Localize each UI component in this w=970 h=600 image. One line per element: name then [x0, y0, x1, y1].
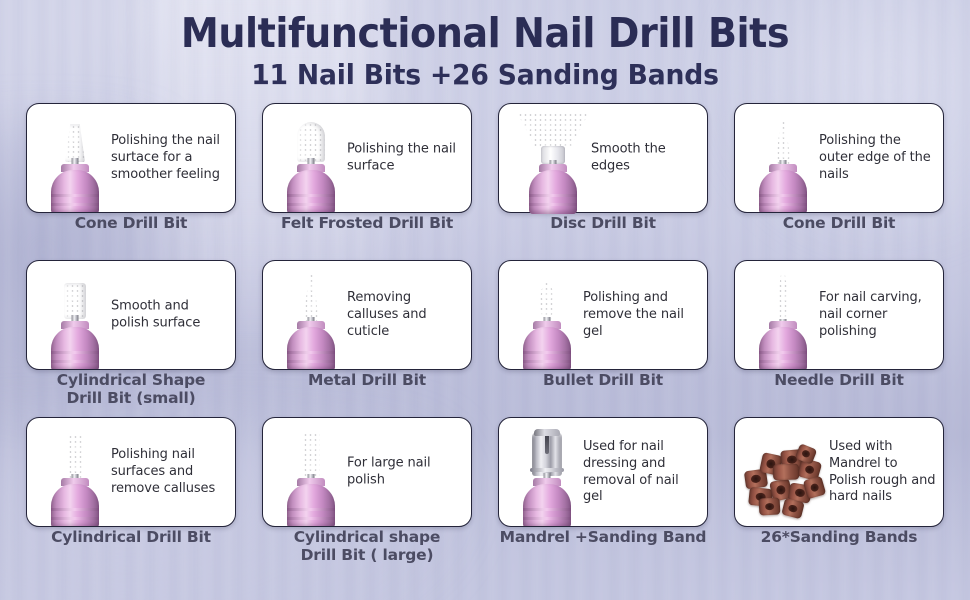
silver-cylinder-large-tip-icon: [302, 432, 320, 478]
grid-cell: Polishing nail surfaces and remove callu…: [20, 417, 242, 574]
disc-bit-illustration: [507, 102, 599, 214]
product-card-cylindrical-shape-drill-bit-small[interactable]: Smooth and polish surface: [26, 260, 236, 370]
pink-metallic-base-icon: [51, 484, 99, 526]
card-description: Smooth the edges: [591, 142, 700, 175]
card-description: Smooth and polish surface: [111, 299, 228, 332]
card-description: For large nail polish: [347, 456, 464, 489]
mandrel-cap-icon: [534, 429, 560, 436]
pink-metallic-base-icon: [51, 170, 99, 212]
mandrel-bit-illustration: [513, 418, 581, 526]
card-caption: Mandrel +Sanding Band: [492, 529, 714, 546]
card-description: Used for nail dressing and removal of na…: [583, 439, 700, 506]
bullet-flame-tip-icon: [538, 281, 556, 321]
pink-metallic-base-icon: [51, 327, 99, 369]
card-description: Polishing the outer edge of the nails: [819, 133, 936, 183]
pink-disc-tip-icon: [517, 112, 589, 148]
metal-taper-bit-illustration: [277, 261, 345, 369]
card-caption: Felt Frosted Drill Bit: [256, 215, 478, 232]
card-description: Used with Mandrel to Polish rough and ha…: [829, 439, 936, 506]
product-card-needle-drill-bit[interactable]: For nail carving, nail corner polishing: [734, 260, 944, 370]
pink-metallic-base-icon: [759, 170, 807, 212]
card-caption: Cone Drill Bit: [20, 215, 242, 232]
pink-metallic-base-icon: [287, 484, 335, 526]
card-description: Removing calluses and cuticle: [347, 290, 464, 340]
silver-cylinder-bit-illustration: [41, 418, 109, 526]
pink-metallic-base-icon: [529, 170, 577, 214]
grid-cell: Smooth the edges Disc Drill Bit: [492, 103, 714, 260]
needle-tip-icon: [777, 263, 789, 323]
ceramic-cylinder-bit-illustration: [41, 261, 109, 369]
page-subtitle: 11 Nail Bits +26 Sanding Bands: [24, 60, 946, 91]
card-caption: 26*Sanding Bands: [728, 529, 950, 546]
product-card-disc-drill-bit[interactable]: Smooth the edges: [498, 103, 708, 213]
product-card-mandrel-sanding-band[interactable]: Used for nail dressing and removal of na…: [498, 417, 708, 527]
cone-ceramic-bit-illustration: [41, 104, 109, 212]
card-caption: Disc Drill Bit: [492, 215, 714, 232]
product-card-felt-frosted-drill-bit[interactable]: Polishing the nail surface: [262, 103, 472, 213]
bullet-bit-illustration: [513, 261, 581, 369]
grid-cell: For nail carving, nail corner polishing …: [728, 260, 950, 417]
tapered-metal-tip-icon: [303, 273, 319, 321]
ceramic-cone-tip-icon: [65, 124, 85, 162]
sanding-band-pile-illustration: [743, 440, 829, 518]
silver-cylinder-tip-icon: [67, 434, 83, 478]
pink-metallic-base-icon: [523, 484, 571, 526]
card-description: Polishing and remove the nail gel: [583, 290, 700, 340]
felt-dome-tip-icon: [297, 122, 325, 162]
needle-bit-illustration: [749, 261, 817, 369]
product-card-cylindrical-shape-drill-bit-large[interactable]: For large nail polish: [262, 417, 472, 527]
sanding-band-icon: [803, 476, 827, 500]
grid-cell: Polishing and remove the nail gel Bullet…: [492, 260, 714, 417]
card-caption: Cylindrical Shape Drill Bit (small): [20, 372, 242, 407]
card-description: For nail carving, nail corner polishing: [819, 290, 936, 340]
product-card-sanding-bands[interactable]: Used with Mandrel to Polish rough and ha…: [734, 417, 944, 527]
silver-cone-bit-illustration: [749, 104, 817, 212]
sanding-band-icon: [781, 498, 805, 519]
grid-cell: Polishing the outer edge of the nails Co…: [728, 103, 950, 260]
grid-cell: Used with Mandrel to Polish rough and ha…: [728, 417, 950, 574]
sanding-band-icon: [759, 498, 781, 516]
pink-metallic-base-icon: [523, 327, 571, 369]
grid-cell: Removing calluses and cuticle Metal Dril…: [256, 260, 478, 417]
page-title: Multifunctional Nail Drill Bits: [34, 12, 936, 55]
card-description: Polishing the nail surtace for a smoothe…: [111, 133, 228, 183]
pink-metallic-base-icon: [287, 327, 335, 369]
card-caption: Cylindrical Drill Bit: [20, 529, 242, 546]
silver-cylinder-large-bit-illustration: [277, 418, 345, 526]
ceramic-cylinder-tip-icon: [64, 283, 86, 319]
product-card-cone-drill-bit-1[interactable]: Polishing the nail surtace for a smoothe…: [26, 103, 236, 213]
grid-cell: Smooth and polish surface Cylindrical Sh…: [20, 260, 242, 417]
card-description: Polishing the nail surface: [347, 142, 464, 175]
card-caption: Bullet Drill Bit: [492, 372, 714, 389]
card-caption: Needle Drill Bit: [728, 372, 950, 389]
grid-cell: Used for nail dressing and removal of na…: [492, 417, 714, 574]
card-caption: Metal Drill Bit: [256, 372, 478, 389]
card-caption: Cylindrical shape Drill Bit ( large): [256, 529, 478, 564]
product-card-cylindrical-drill-bit[interactable]: Polishing nail surfaces and remove callu…: [26, 417, 236, 527]
product-card-metal-drill-bit[interactable]: Removing calluses and cuticle: [262, 260, 472, 370]
card-caption: Cone Drill Bit: [728, 215, 950, 232]
pink-metallic-base-icon: [287, 170, 335, 212]
card-description: Polishing nail surfaces and remove callu…: [111, 447, 228, 497]
grid-cell: Polishing the nail surtace for a smoothe…: [20, 103, 242, 260]
sanding-band-icon: [773, 464, 800, 481]
silver-cone-tip-icon: [775, 120, 791, 164]
pink-metallic-base-icon: [759, 327, 807, 369]
mandrel-ring-icon: [530, 468, 564, 472]
grid-cell: For large nail polish Cylindrical shape …: [256, 417, 478, 574]
header: Multifunctional Nail Drill Bits 11 Nail …: [0, 0, 970, 91]
product-card-cone-drill-bit-2[interactable]: Polishing the outer edge of the nails: [734, 103, 944, 213]
felt-dome-bit-illustration: [277, 104, 345, 212]
drill-bit-grid: Polishing the nail surtace for a smoothe…: [0, 103, 970, 574]
grid-cell: Polishing the nail surface Felt Frosted …: [256, 103, 478, 260]
product-card-bullet-drill-bit[interactable]: Polishing and remove the nail gel: [498, 260, 708, 370]
